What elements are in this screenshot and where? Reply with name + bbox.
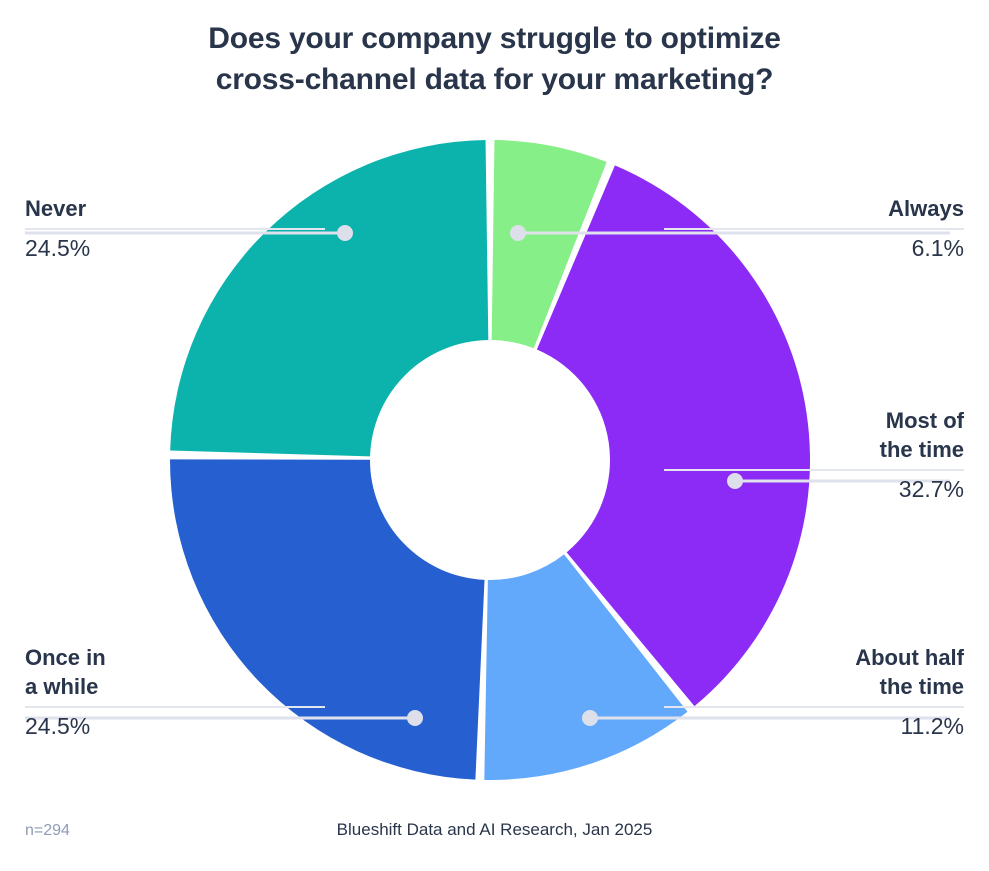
callout-about-half-the-time-value: 11.2% [664, 712, 964, 742]
callout-always-label: Always [664, 194, 964, 223]
leader-dot-never [337, 225, 353, 241]
source-label: Blueshift Data and AI Research, Jan 2025 [0, 820, 989, 840]
callout-never-value: 24.5% [25, 234, 325, 264]
callout-always-value: 6.1% [664, 234, 964, 264]
callout-about-half-the-time-label: About half the time [664, 643, 964, 701]
callout-about-half-the-time-rule [664, 706, 964, 708]
leader-dot-once-in-a-while [407, 710, 423, 726]
leader-dot-always [510, 225, 526, 241]
chart-page: Does your company struggle to optimize c… [0, 0, 989, 871]
callout-once-in-a-while-rule [25, 706, 325, 708]
callout-never: Never 24.5% [25, 194, 325, 264]
callout-once-in-a-while: Once in a while 24.5% [25, 643, 325, 742]
callout-most-of-the-time-rule [664, 469, 964, 471]
callout-always-rule [664, 228, 964, 230]
callout-once-in-a-while-label: Once in a while [25, 643, 325, 701]
callout-most-of-the-time-label: Most of the time [664, 406, 964, 464]
leader-dot-about-half-the-time [582, 710, 598, 726]
callout-never-rule [25, 228, 325, 230]
callout-always: Always 6.1% [664, 194, 964, 264]
callout-most-of-the-time: Most of the time 32.7% [664, 406, 964, 505]
callout-once-in-a-while-value: 24.5% [25, 712, 325, 742]
donut-slice-never[interactable] [170, 140, 488, 456]
callout-most-of-the-time-value: 32.7% [664, 475, 964, 505]
callout-about-half-the-time: About half the time 11.2% [664, 643, 964, 742]
callout-never-label: Never [25, 194, 325, 223]
